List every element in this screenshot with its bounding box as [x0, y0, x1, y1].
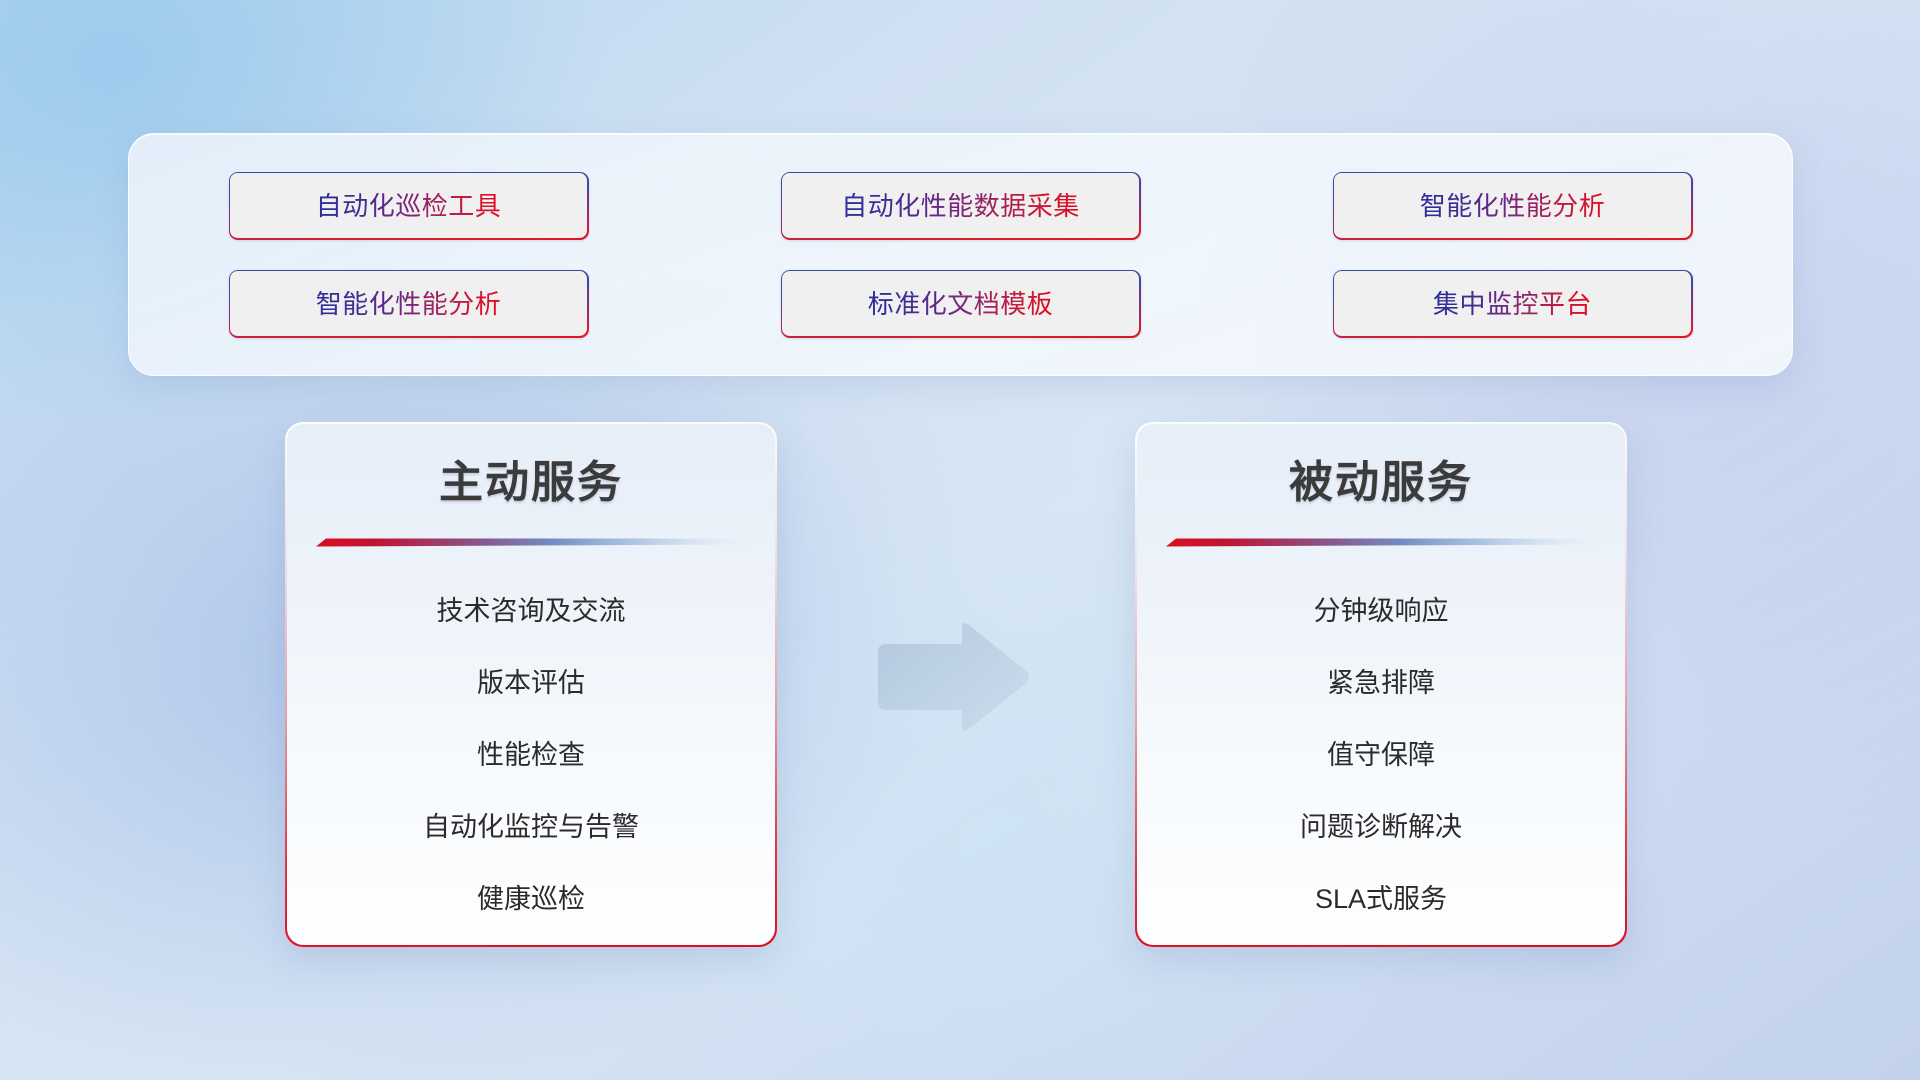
capability-pill-label: 自动化性能数据采集: [841, 193, 1080, 219]
capability-pill-inner: 自动化性能数据采集: [782, 173, 1138, 237]
reactive-card-list: 分钟级响应 紧急排障 值守保障 问题诊断解决 SLA式服务: [1137, 576, 1626, 936]
capability-pill-grid: 自动化巡检工具 自动化性能数据采集 智能化性能分析 智能化性能分析: [229, 172, 1693, 338]
reactive-service-card: 被动服务 分钟级响应 紧急排障 值守保障: [1135, 422, 1627, 947]
capability-pill-inner: 智能化性能分析: [230, 271, 586, 335]
capability-pill-label: 智能化性能分析: [316, 291, 502, 317]
reactive-card-body: 被动服务 分钟级响应 紧急排障 值守保障: [1137, 424, 1626, 946]
capability-pill[interactable]: 标准化文档模板: [781, 270, 1141, 338]
capability-pill-label: 标准化文档模板: [868, 291, 1054, 317]
proactive-card-title: 主动服务: [439, 461, 623, 505]
capability-panel: 自动化巡检工具 自动化性能数据采集 智能化性能分析 智能化性能分析: [128, 133, 1793, 376]
list-item[interactable]: 技术咨询及交流: [437, 576, 626, 648]
slide-canvas: 自动化巡检工具 自动化性能数据采集 智能化性能分析 智能化性能分析: [0, 0, 1920, 1080]
reactive-card-title: 被动服务: [1289, 461, 1473, 505]
capability-pill[interactable]: 自动化性能数据采集: [781, 172, 1141, 240]
capability-pill[interactable]: 自动化巡检工具: [229, 172, 589, 240]
proactive-card-list: 技术咨询及交流 版本评估 性能检查 自动化监控与告警 健康巡检: [287, 576, 776, 936]
proactive-service-card: 主动服务 技术咨询及交流 版本评估 性能检查: [285, 422, 777, 947]
capability-pill-inner: 智能化性能分析: [1334, 173, 1690, 237]
capability-pill-inner: 标准化文档模板: [782, 271, 1138, 335]
list-item[interactable]: 紧急排障: [1327, 648, 1435, 720]
capability-pill-label: 集中监控平台: [1433, 291, 1592, 317]
proactive-card-body: 主动服务 技术咨询及交流 版本评估 性能检查: [287, 424, 776, 946]
capability-pill[interactable]: 集中监控平台: [1333, 270, 1693, 338]
list-item[interactable]: 版本评估: [477, 648, 585, 720]
list-item[interactable]: 性能检查: [477, 720, 585, 792]
list-item[interactable]: 分钟级响应: [1314, 576, 1449, 648]
arrow-right-icon: [872, 618, 1032, 736]
proactive-card-divider: [316, 536, 746, 548]
list-item[interactable]: 健康巡检: [477, 864, 585, 936]
reactive-card-divider: [1166, 536, 1596, 548]
capability-pill-label: 自动化巡检工具: [316, 193, 502, 219]
capability-pill[interactable]: 智能化性能分析: [229, 270, 589, 338]
capability-pill[interactable]: 智能化性能分析: [1333, 172, 1693, 240]
capability-pill-label: 智能化性能分析: [1420, 193, 1606, 219]
list-item[interactable]: 自动化监控与告警: [423, 792, 639, 864]
capability-pill-inner: 集中监控平台: [1334, 271, 1690, 335]
list-item[interactable]: 值守保障: [1327, 720, 1435, 792]
list-item[interactable]: 问题诊断解决: [1300, 792, 1462, 864]
capability-pill-inner: 自动化巡检工具: [230, 173, 586, 237]
list-item[interactable]: SLA式服务: [1315, 864, 1447, 936]
